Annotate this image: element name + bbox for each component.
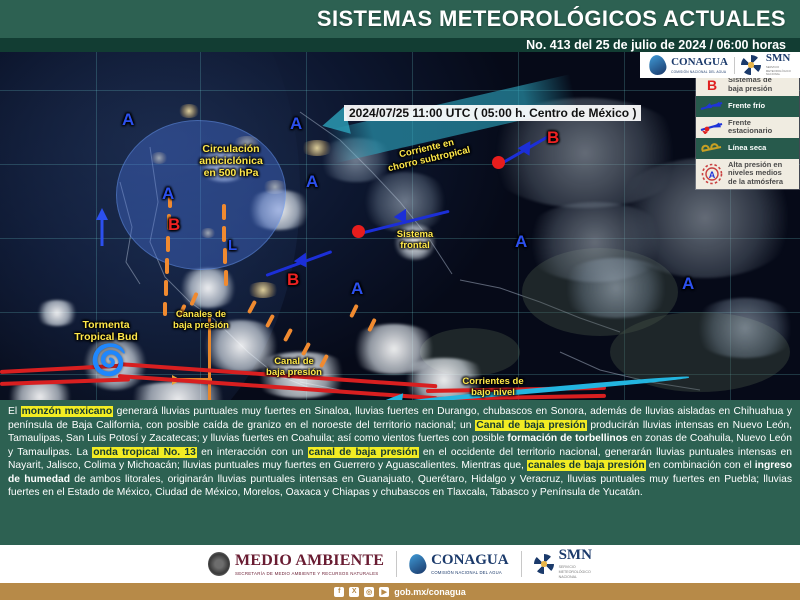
- weather-bulletin-page: SISTEMAS METEOROLÓGICOS ACTUALES No. 413…: [0, 0, 800, 600]
- conagua-wordmark: CONAGUA: [671, 57, 728, 68]
- cloud-mass: [392, 224, 438, 260]
- smn-emblem-icon: [534, 554, 554, 574]
- trough-dash: [224, 270, 228, 286]
- header-subtitle-band: No. 413 del 25 de julio de 2024 / 06:00 …: [0, 38, 800, 52]
- smn-emblem-icon: [741, 55, 761, 75]
- letter-b-icon: B: [699, 76, 725, 93]
- legend-label: Sistemas de baja presión: [728, 76, 772, 93]
- city-lights: [178, 104, 200, 118]
- map-timestamp: 2024/07/25 11:00 UTC ( 05:00 h. Centro d…: [344, 105, 641, 121]
- instagram-icon[interactable]: ◎: [364, 587, 374, 597]
- front-low-center-icon: [352, 225, 365, 238]
- water-drop-icon: [647, 53, 668, 76]
- conagua-wordmark: CONAGUA: [431, 553, 509, 568]
- forecast-highlight: onda tropical No. 13: [92, 447, 197, 458]
- water-drop-icon: [407, 552, 428, 575]
- x-icon[interactable]: X: [349, 587, 359, 597]
- map-marker-high-pressure: A: [515, 232, 527, 252]
- tropical-storm-symbol: 🌀: [90, 346, 127, 376]
- city-lights: [246, 282, 280, 298]
- map-marker-low-pressure: B: [547, 128, 559, 148]
- cold-front-icon: [699, 98, 725, 115]
- map-marker-high-pressure: A: [306, 172, 318, 192]
- mid-level-high-icon: A: [699, 165, 725, 182]
- legend-item-cold-front[interactable]: Frente frío: [696, 96, 799, 117]
- trough-dash: [163, 302, 167, 316]
- smn-logo-footer: SMN SERVICIO METEOROLÓGICO NACIONAL: [534, 548, 592, 579]
- legend-label: Frente frío: [728, 102, 765, 111]
- forecast-highlight: canales de baja presión: [527, 460, 646, 471]
- trough-dash: [222, 204, 226, 220]
- legend-label: Frente estacionario: [728, 119, 772, 136]
- front-low-center-icon: [492, 156, 505, 169]
- logo-divider: [396, 551, 397, 577]
- map-marker-high-pressure: A: [290, 114, 302, 134]
- map-marker-low-L: L: [228, 237, 237, 254]
- conagua-subtitle: COMISIÓN NACIONAL DEL AGUA: [671, 70, 728, 74]
- conagua-subtitle: COMISIÓN NACIONAL DEL AGUA: [431, 570, 509, 575]
- forecast-text: en combinación con el: [646, 460, 755, 471]
- trough-dash: [223, 248, 227, 264]
- map-marker-high-pressure: A: [162, 184, 174, 204]
- legend-item-mid-level-high[interactable]: A Alta presión en niveles medios de la a…: [696, 159, 799, 189]
- medio-ambiente-logo: MEDIO AMBIENTE SECRETARÍA DE MEDIO AMBIE…: [208, 552, 384, 576]
- satellite-map[interactable]: 🌀 A A A A B L B A A A B B B Circulación …: [0, 52, 800, 400]
- website-url[interactable]: gob.mx/conagua: [394, 587, 466, 597]
- legend-item-stationary-front[interactable]: Frente estacionario: [696, 117, 799, 138]
- dry-line-icon: [699, 140, 725, 157]
- forecast-text: en interacción con un: [197, 447, 308, 458]
- forecast-highlight: monzón mexicano: [21, 406, 113, 417]
- map-marker-low-pressure: B: [287, 270, 299, 290]
- logo-divider: [734, 57, 735, 74]
- facebook-icon[interactable]: f: [334, 587, 344, 597]
- mexico-eagle-icon: [208, 552, 230, 576]
- forecast-text-panel: El monzón mexicano generará lluvias punt…: [0, 400, 800, 545]
- bulletin-number-date: No. 413 del 25 de julio de 2024 / 06:00 …: [526, 38, 800, 52]
- smn-wordmark: SMN: [766, 53, 791, 64]
- medio-ambiente-wordmark: MEDIO AMBIENTE: [235, 553, 384, 569]
- forecast-highlight: Canal de baja presión: [475, 420, 586, 431]
- svg-text:A: A: [709, 170, 716, 180]
- low-level-jet-arrow-icon: [385, 391, 403, 400]
- smn-wordmark: SMN: [559, 548, 592, 563]
- forecast-highlight: canal de baja presión: [308, 447, 419, 458]
- header-logos: CONAGUA COMISIÓN NACIONAL DEL AGUA SMN S…: [640, 52, 800, 78]
- header-title-band: SISTEMAS METEOROLÓGICOS ACTUALES: [0, 0, 800, 38]
- smn-logo-header: SMN SERVICIO METEOROLÓGICO NACIONAL: [741, 53, 791, 77]
- youtube-icon[interactable]: ▶: [379, 587, 389, 597]
- page-title: SISTEMAS METEOROLÓGICOS ACTUALES: [317, 6, 800, 32]
- smn-subtitle: SERVICIO METEOROLÓGICO NACIONAL: [559, 565, 592, 579]
- map-marker-high-pressure: A: [351, 279, 363, 299]
- footer-social-bar: f X ◎ ▶ gob.mx/conagua: [0, 583, 800, 600]
- forecast-paragraph: El monzón mexicano generará lluvias punt…: [8, 405, 792, 500]
- trough-dash: [165, 258, 169, 274]
- map-marker-low-pressure: B: [168, 215, 180, 235]
- anticyclonic-circulation-zone: [116, 120, 286, 270]
- stationary-front-icon: [699, 119, 725, 136]
- conagua-logo-header: CONAGUA COMISIÓN NACIONAL DEL AGUA: [649, 55, 728, 75]
- legend-label: Alta presión en niveles medios de la atm…: [728, 161, 783, 187]
- map-marker-high-pressure: A: [122, 110, 134, 130]
- tropical-wave-line: [208, 317, 211, 400]
- footer-logos: MEDIO AMBIENTE SECRETARÍA DE MEDIO AMBIE…: [0, 545, 800, 583]
- cloud-mass: [556, 258, 676, 318]
- cloud-mass: [690, 298, 800, 358]
- legend-item-dry-line[interactable]: Línea seca: [696, 138, 799, 159]
- trough-dash: [164, 280, 168, 296]
- forecast-text: El: [8, 406, 21, 417]
- map-marker-high-pressure: A: [682, 274, 694, 294]
- conagua-logo-footer: CONAGUA COMISIÓN NACIONAL DEL AGUA: [409, 553, 509, 575]
- cloud-mass: [176, 268, 240, 308]
- smn-subtitle: SERVICIO METEOROLÓGICO NACIONAL: [766, 66, 791, 77]
- dry-line-icon: [96, 202, 136, 252]
- medio-ambiente-subtitle: SECRETARÍA DE MEDIO AMBIENTE Y RECURSOS …: [235, 571, 384, 576]
- logo-divider: [521, 551, 522, 577]
- legend-label: Línea seca: [728, 144, 766, 153]
- forecast-text: de ambos litorales, originarán lluvias p…: [8, 474, 792, 499]
- trough-dash: [166, 236, 170, 252]
- forecast-emphasis: formación de torbellinos: [507, 433, 627, 444]
- cloud-mass: [34, 300, 80, 326]
- trough-dash: [222, 226, 226, 242]
